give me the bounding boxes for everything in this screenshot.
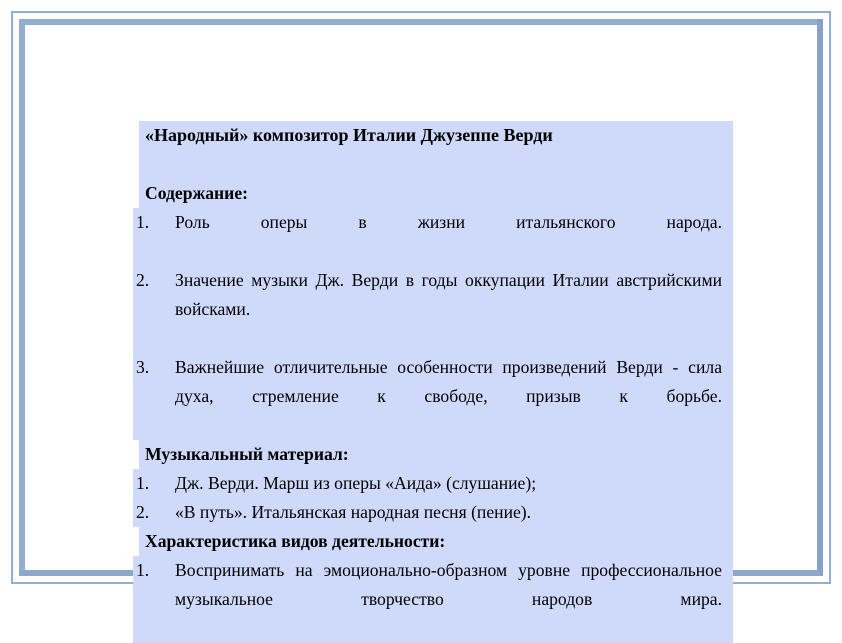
list-item-text: Дж. Верди. Марш из оперы «Аида» (слушани… (175, 469, 722, 498)
list-item-text: Значение музыки Дж. Верди в годы оккупац… (175, 266, 722, 353)
list-item-text: Важнейшие отличительные особенности прои… (175, 353, 722, 440)
section-heading-activity-characteristics: Характеристика видов деятельности: (139, 527, 733, 556)
list-item: 1. Дж. Верди. Марш из оперы «Аида» (слуш… (133, 469, 733, 498)
list-item-number: 1. (133, 556, 175, 585)
list-item-number: 2. (133, 498, 175, 527)
list-item-number: 3. (133, 353, 175, 382)
list-item-text: Роль оперы в жизни итальянского народа. (175, 208, 722, 266)
list-item: 1. Роль оперы в жизни итальянского народ… (133, 208, 733, 266)
list-item: 2. «В путь». Итальянская народная песня … (133, 498, 733, 527)
section-heading-contents: Содержание: (139, 179, 733, 208)
section-heading-music-material: Музыкальный материал: (139, 440, 733, 469)
slide-title: «Народный» композитор Италии Джузеппе Ве… (139, 121, 733, 150)
list-item-text: Воспринимать на эмоционально-образном ур… (175, 556, 722, 643)
list-item-number: 1. (133, 208, 175, 237)
list-item: 3. Важнейшие отличительные особенности п… (133, 353, 733, 440)
list-item-number: 2. (133, 266, 175, 295)
list-item-number: 1. (133, 469, 175, 498)
title-spacer (139, 150, 733, 179)
slide-content: «Народный» композитор Италии Джузеппе Ве… (133, 121, 733, 643)
slide: «Народный» композитор Италии Джузеппе Ве… (0, 0, 842, 595)
list-item: 2. Значение музыки Дж. Верди в годы окку… (133, 266, 733, 353)
list-item: 1. Воспринимать на эмоционально-образном… (133, 556, 733, 643)
list-item-text: «В путь». Итальянская народная песня (пе… (175, 498, 722, 527)
